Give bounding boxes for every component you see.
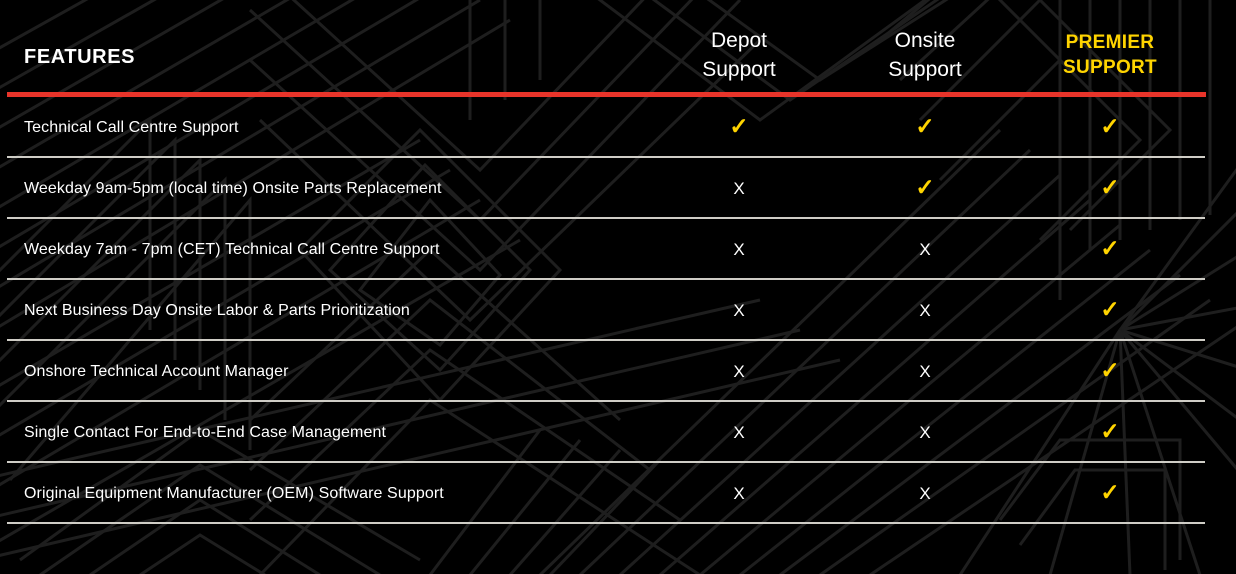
feature-name-cell: Weekday 9am-5pm (local time) Onsite Part…	[24, 158, 442, 219]
check-icon: ✓	[729, 115, 748, 138]
check-icon: ✓	[915, 115, 934, 138]
table-row: Next Business Day Onsite Labor & Parts P…	[0, 280, 1236, 341]
check-icon: ✓	[1100, 298, 1119, 321]
check-icon: ✓	[1100, 115, 1119, 138]
availability-cell-onsite: X	[825, 463, 1025, 524]
check-icon: ✓	[1100, 420, 1119, 443]
feature-name-cell: Original Equipment Manufacturer (OEM) So…	[24, 463, 444, 524]
table-row: Weekday 9am-5pm (local time) Onsite Part…	[0, 158, 1236, 219]
column-header-onsite-support: Onsite Support	[825, 26, 1025, 84]
cross-icon: X	[733, 180, 744, 197]
table-row: Original Equipment Manufacturer (OEM) So…	[0, 463, 1236, 524]
cross-icon: X	[919, 241, 930, 258]
availability-cell-onsite: X	[825, 219, 1025, 280]
availability-cell-depot: ✓	[639, 97, 839, 158]
feature-name-cell: Single Contact For End-to-End Case Manag…	[24, 402, 386, 463]
table-row: Single Contact For End-to-End Case Manag…	[0, 402, 1236, 463]
feature-name-cell: Next Business Day Onsite Labor & Parts P…	[24, 280, 410, 341]
cross-icon: X	[733, 424, 744, 441]
table-row: Technical Call Centre Support✓✓✓	[0, 97, 1236, 158]
availability-cell-onsite: X	[825, 280, 1025, 341]
column-header-onsite-line1: Onsite	[825, 26, 1025, 55]
column-header-depot-line2: Support	[639, 55, 839, 84]
availability-cell-depot: X	[639, 341, 839, 402]
feature-name-cell: Weekday 7am - 7pm (CET) Technical Call C…	[24, 219, 440, 280]
cross-icon: X	[919, 363, 930, 380]
availability-cell-premier: ✓	[1010, 280, 1210, 341]
availability-cell-depot: X	[639, 280, 839, 341]
availability-cell-premier: ✓	[1010, 402, 1210, 463]
features-column-title: FEATURES	[24, 46, 135, 69]
availability-cell-depot: X	[639, 463, 839, 524]
row-divider	[7, 522, 1205, 524]
table-row: Onshore Technical Account ManagerXX✓	[0, 341, 1236, 402]
column-header-premier-support: PREMIER SUPPORT	[1010, 30, 1210, 80]
column-header-premier-line1: PREMIER	[1010, 30, 1210, 55]
cross-icon: X	[733, 241, 744, 258]
feature-name-cell: Technical Call Centre Support	[24, 97, 239, 158]
availability-cell-depot: X	[639, 158, 839, 219]
availability-cell-depot: X	[639, 402, 839, 463]
check-icon: ✓	[1100, 359, 1119, 382]
table-row: Weekday 7am - 7pm (CET) Technical Call C…	[0, 219, 1236, 280]
cross-icon: X	[733, 363, 744, 380]
feature-name-cell: Onshore Technical Account Manager	[24, 341, 289, 402]
cross-icon: X	[919, 485, 930, 502]
availability-cell-premier: ✓	[1010, 219, 1210, 280]
availability-cell-premier: ✓	[1010, 158, 1210, 219]
availability-cell-onsite: X	[825, 341, 1025, 402]
availability-cell-onsite: X	[825, 402, 1025, 463]
availability-cell-onsite: ✓	[825, 97, 1025, 158]
support-comparison-table: FEATURES Depot Support Onsite Support PR…	[0, 0, 1236, 574]
cross-icon: X	[733, 302, 744, 319]
check-icon: ✓	[915, 176, 934, 199]
availability-cell-premier: ✓	[1010, 341, 1210, 402]
cross-icon: X	[919, 302, 930, 319]
column-header-onsite-line2: Support	[825, 55, 1025, 84]
check-icon: ✓	[1100, 481, 1119, 504]
check-icon: ✓	[1100, 176, 1119, 199]
availability-cell-onsite: ✓	[825, 158, 1025, 219]
table-header-row: FEATURES Depot Support Onsite Support PR…	[0, 0, 1236, 95]
availability-cell-depot: X	[639, 219, 839, 280]
cross-icon: X	[733, 485, 744, 502]
feature-rows-container: Technical Call Centre Support✓✓✓Weekday …	[0, 97, 1236, 524]
column-header-premier-line2: SUPPORT	[1010, 55, 1210, 80]
cross-icon: X	[919, 424, 930, 441]
check-icon: ✓	[1100, 237, 1119, 260]
availability-cell-premier: ✓	[1010, 97, 1210, 158]
column-header-depot-support: Depot Support	[639, 26, 839, 84]
availability-cell-premier: ✓	[1010, 463, 1210, 524]
column-header-depot-line1: Depot	[639, 26, 839, 55]
